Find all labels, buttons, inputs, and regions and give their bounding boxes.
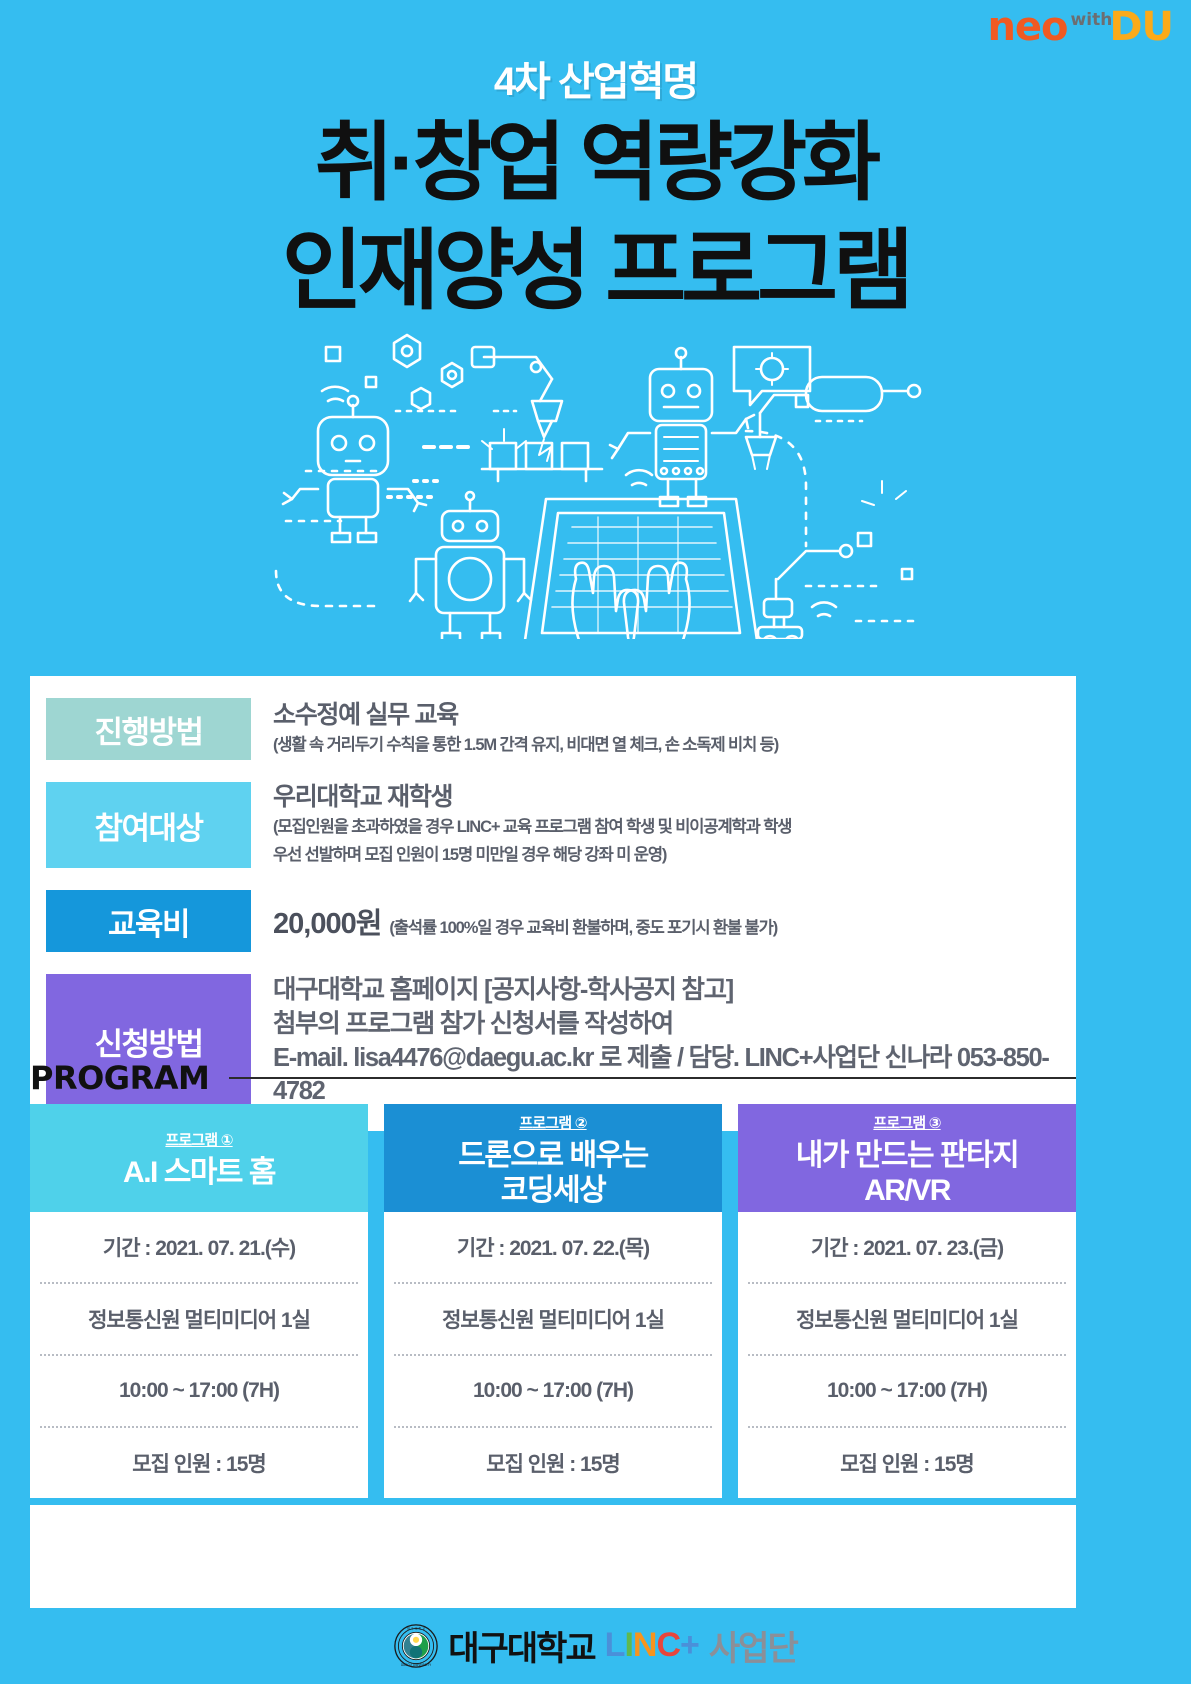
program-card-1-place: 정보통신원 멀티미디어 1실	[40, 1284, 358, 1354]
linc-plus-logo: L I N C +	[605, 1626, 699, 1665]
info-row-target: 참여대상 우리대학교 재학생 (모집인원을 초과하였을 경우 LINC+ 교육 …	[30, 782, 1076, 868]
info-row-fee: 교육비 20,000원 (출석률 100%일 경우 교육비 환불하며, 중도 포…	[30, 890, 1076, 952]
apply-line-2: 첨부의 프로그램 참가 신청서를 작성하여	[273, 1008, 1062, 1042]
linc-letter-n: N	[633, 1626, 657, 1665]
fee-line: 20,000원 (출석률 100%일 경우 교육비 환불하며, 중도 포기시 환…	[273, 900, 1062, 942]
program-card-3-title-line-2: AR/VR	[796, 1174, 1018, 1209]
program-card-2-body: 기간 : 2021. 07. 22.(목) 정보통신원 멀티미디어 1실 10:…	[384, 1212, 722, 1498]
program-card-1-title: A.I 스마트 홈	[123, 1156, 275, 1191]
program-card-2-time: 10:00 ~ 17:00 (7H)	[394, 1356, 712, 1426]
program-card-2-title: 드론으로 배우는 코딩세상	[458, 1139, 648, 1209]
fee-amount: 20,000원	[273, 900, 381, 942]
university-name: 대구대학교	[448, 1621, 594, 1670]
neo-logo-text: neo	[987, 8, 1067, 46]
program-card-3-title: 내가 만드는 판타지 AR/VR	[796, 1139, 1018, 1209]
footer-white-band	[30, 1505, 1076, 1608]
program-card-2[interactable]: 프로그램 ② 드론으로 배우는 코딩세상 기간 : 2021. 07. 22.(…	[384, 1104, 722, 1498]
info-body-fee: 20,000원 (출석률 100%일 경우 교육비 환불하며, 중도 포기시 환…	[251, 890, 1076, 952]
row-gap-2	[30, 868, 1076, 890]
info-main-target: 우리대학교 재학생	[273, 782, 1062, 813]
title-kicker: 4차 산업혁명	[0, 62, 1191, 102]
info-sub-method-1: (생활 속 거리두기 수칙을 통한 1.5M 간격 유지, 비대면 열 체크, …	[273, 733, 1062, 759]
program-card-1-kicker: 프로그램 ①	[165, 1129, 232, 1150]
apply-line-1: 대구대학교 홈페이지 [공지사항-학사공지 참고]	[273, 974, 1062, 1008]
program-card-1-capacity: 모집 인원 : 15명	[40, 1428, 358, 1498]
program-card-list: 프로그램 ① A.I 스마트 홈 기간 : 2021. 07. 21.(수) 정…	[30, 1104, 1076, 1498]
fee-note: (출석률 100%일 경우 교육비 환불하며, 중도 포기시 환불 불가)	[389, 914, 777, 938]
program-card-3-title-line-1: 내가 만드는 판타지	[796, 1139, 1018, 1174]
program-card-1-header: 프로그램 ① A.I 스마트 홈	[30, 1104, 368, 1212]
robot-automation-illustration	[0, 321, 1191, 639]
program-card-2-title-line-1: 드론으로 배우는	[458, 1139, 648, 1174]
page-title-line-1: 취·창업 역량강화	[0, 120, 1191, 208]
row-gap-3	[30, 952, 1076, 974]
program-card-2-place: 정보통신원 멀티미디어 1실	[394, 1284, 712, 1354]
program-card-1-body: 기간 : 2021. 07. 21.(수) 정보통신원 멀티미디어 1실 10:…	[30, 1212, 368, 1498]
program-card-3[interactable]: 프로그램 ③ 내가 만드는 판타지 AR/VR 기간 : 2021. 07. 2…	[738, 1104, 1076, 1498]
info-label-method: 진행방법	[46, 698, 251, 760]
program-card-3-place: 정보통신원 멀티미디어 1실	[748, 1284, 1066, 1354]
program-card-2-header: 프로그램 ② 드론으로 배우는 코딩세상	[384, 1104, 722, 1212]
linc-letter-l: L	[605, 1626, 625, 1665]
program-heading: PROGRAM	[30, 1059, 209, 1097]
program-card-1-time: 10:00 ~ 17:00 (7H)	[40, 1356, 358, 1426]
info-body-method: 소수정예 실무 교육 (생활 속 거리두기 수칙을 통한 1.5M 간격 유지,…	[251, 698, 1076, 760]
row-gap-1	[30, 760, 1076, 782]
program-card-3-header: 프로그램 ③ 내가 만드는 판타지 AR/VR	[738, 1104, 1076, 1212]
program-card-1-period: 기간 : 2021. 07. 21.(수)	[40, 1212, 358, 1282]
info-sub-target-1: (모집인원을 초과하였을 경우 LINC+ 교육 프로그램 참여 학생 및 비이…	[273, 815, 1062, 841]
linc-suffix-label: 사업단	[709, 1621, 797, 1670]
footer-logo-row: 대 구 대 학 교 DAEGU UNIVERSITY 대구대학교 L I N C…	[0, 1621, 1191, 1670]
info-label-target: 참여대상	[46, 782, 251, 868]
linc-letter-plus: +	[680, 1626, 699, 1665]
illustration-svg	[246, 321, 946, 639]
linc-letter-c: C	[656, 1626, 680, 1665]
program-card-3-body: 기간 : 2021. 07. 23.(금) 정보통신원 멀티미디어 1실 10:…	[738, 1212, 1076, 1498]
program-card-3-kicker: 프로그램 ③	[873, 1112, 940, 1133]
program-card-2-title-line-2: 코딩세상	[458, 1174, 648, 1209]
info-sub-target-2: 우선 선발하며 모집 인원이 15명 미만일 경우 해당 강좌 미 운영)	[273, 843, 1062, 869]
program-card-3-capacity: 모집 인원 : 15명	[748, 1428, 1066, 1498]
program-card-3-period: 기간 : 2021. 07. 23.(금)	[748, 1212, 1066, 1282]
neo-with-du-logo: neo with DU	[987, 8, 1173, 46]
svg-text:DAEGU UNIVERSITY: DAEGU UNIVERSITY	[401, 1662, 431, 1666]
program-card-3-time: 10:00 ~ 17:00 (7H)	[748, 1356, 1066, 1426]
info-row-method: 진행방법 소수정예 실무 교육 (생활 속 거리두기 수칙을 통한 1.5M 간…	[30, 698, 1076, 760]
du-logo-text: DU	[1109, 8, 1173, 46]
info-label-fee: 교육비	[46, 890, 251, 952]
linc-letter-i: I	[624, 1626, 632, 1665]
daegu-university-seal-icon: 대 구 대 학 교 DAEGU UNIVERSITY	[394, 1624, 438, 1668]
program-divider-rule	[229, 1077, 1076, 1079]
with-logo-text: with	[1071, 10, 1113, 30]
panel-top-spacer	[30, 676, 1076, 698]
program-section-header: PROGRAM	[30, 1059, 1076, 1097]
page-title-line-2: 인재양성 프로그램	[0, 226, 1191, 316]
svg-text:대 구 대 학 교: 대 구 대 학 교	[407, 1625, 425, 1630]
info-main-method: 소수정예 실무 교육	[273, 700, 1062, 731]
program-card-1[interactable]: 프로그램 ① A.I 스마트 홈 기간 : 2021. 07. 21.(수) 정…	[30, 1104, 368, 1498]
program-card-2-kicker: 프로그램 ②	[519, 1112, 586, 1133]
program-card-2-period: 기간 : 2021. 07. 22.(목)	[394, 1212, 712, 1282]
program-card-2-capacity: 모집 인원 : 15명	[394, 1428, 712, 1498]
info-body-target: 우리대학교 재학생 (모집인원을 초과하였을 경우 LINC+ 교육 프로그램 …	[251, 782, 1076, 868]
